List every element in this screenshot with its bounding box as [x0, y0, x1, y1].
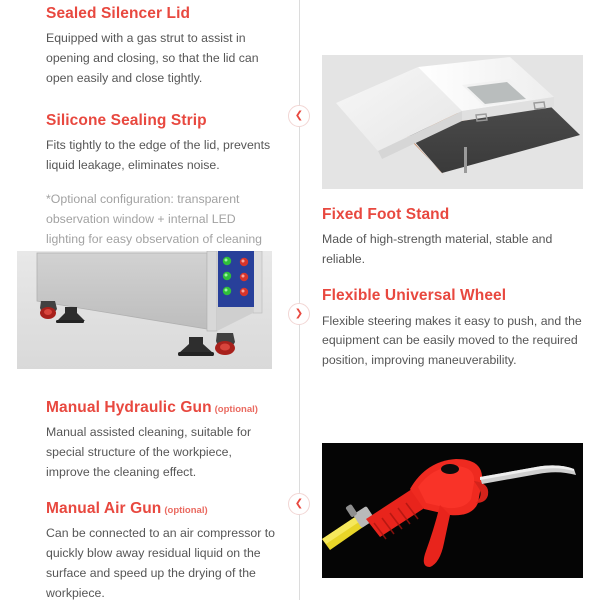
feature-spec-page: ❮ ❯ ❮ Sealed Silencer Lid Equipped with …: [0, 0, 600, 600]
feature-title: Fixed Foot Stand: [322, 205, 582, 224]
feature-body: Equipped with a gas strut to assist in o…: [46, 29, 277, 89]
feature-title: Flexible Universal Wheel: [322, 286, 582, 305]
feature-title: Silicone Sealing Strip: [46, 111, 277, 130]
optional-tag: (optional): [215, 404, 258, 415]
machine-lid-photo: [322, 55, 583, 189]
feature-title: Sealed Silencer Lid: [46, 4, 277, 23]
air-gun-illustration: [322, 443, 583, 578]
feature-manual-hydraulic-gun: Manual Hydraulic Gun(optional) Manual as…: [0, 398, 299, 483]
optional-tag: (optional): [164, 505, 207, 516]
feature-title: Manual Hydraulic Gun(optional): [46, 398, 277, 417]
feature-silicone-sealing-strip: Silicone Sealing Strip Fits tightly to t…: [0, 111, 299, 176]
caster-wheel: [40, 301, 57, 319]
feature-body: Flexible steering makes it easy to push,…: [322, 312, 582, 372]
feature-body: Fits tightly to the edge of the lid, pre…: [46, 136, 277, 176]
machine-base-casters-photo: [17, 251, 272, 369]
machine-base-illustration: [17, 251, 272, 369]
feature-sealed-silencer-lid: Sealed Silencer Lid Equipped with a gas …: [0, 0, 299, 89]
air-gun-photo: [322, 443, 583, 578]
feature-body: Can be connected to an air compressor to…: [46, 524, 277, 604]
feature-body: Made of high-strength material, stable a…: [322, 230, 582, 270]
caster-wheel: [215, 333, 235, 355]
feature-title: Manual Air Gun(optional): [46, 499, 277, 518]
feature-body: Manual assisted cleaning, suitable for s…: [46, 423, 277, 483]
feature-flexible-universal-wheel: Flexible Universal Wheel Flexible steeri…: [300, 286, 600, 371]
machine-lid-illustration: [322, 55, 583, 189]
feature-manual-air-gun: Manual Air Gun(optional) Can be connecte…: [0, 499, 299, 604]
feature-fixed-foot-stand: Fixed Foot Stand Made of high-strength m…: [300, 205, 600, 270]
